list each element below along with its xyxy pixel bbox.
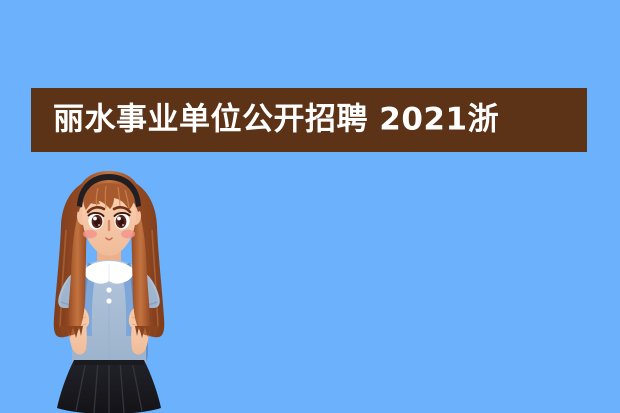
banner-title: 丽水事业单位公开招聘 2021浙 [53,105,499,136]
banner-image: 丽水事业单位公开招聘 2021浙 [0,0,620,413]
shirt-collar [85,261,134,284]
schoolgirl-svg [26,168,192,413]
schoolgirl-illustration [26,168,192,413]
title-bar: 丽水事业单位公开招聘 2021浙 [31,88,587,152]
skirt [57,360,161,413]
